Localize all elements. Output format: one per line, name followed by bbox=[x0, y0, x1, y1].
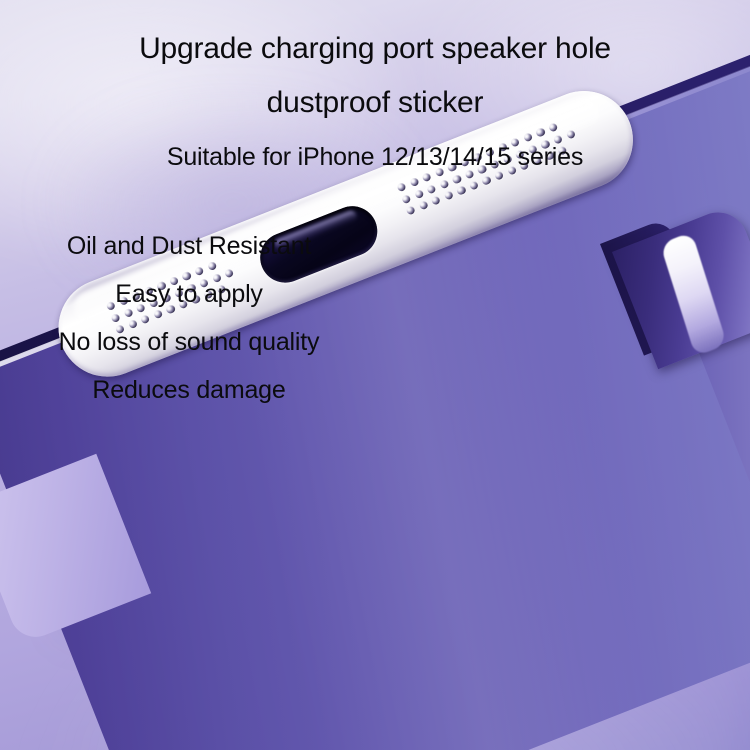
product-image: Upgrade charging port speaker hole dustp… bbox=[0, 0, 750, 750]
feature-list: Oil and Dust Resistant Easy to apply No … bbox=[14, 222, 364, 414]
feature-item: Easy to apply bbox=[14, 270, 364, 318]
feature-item: Reduces damage bbox=[14, 366, 364, 414]
headline: Upgrade charging port speaker hole dustp… bbox=[0, 22, 750, 130]
feature-item: Oil and Dust Resistant bbox=[14, 222, 364, 270]
compatibility-subtitle: Suitable for iPhone 12/13/14/15 series bbox=[0, 140, 750, 174]
headline-line-1: Upgrade charging port speaker hole bbox=[0, 22, 750, 76]
headline-line-2: dustproof sticker bbox=[0, 76, 750, 130]
feature-item: No loss of sound quality bbox=[14, 318, 364, 366]
